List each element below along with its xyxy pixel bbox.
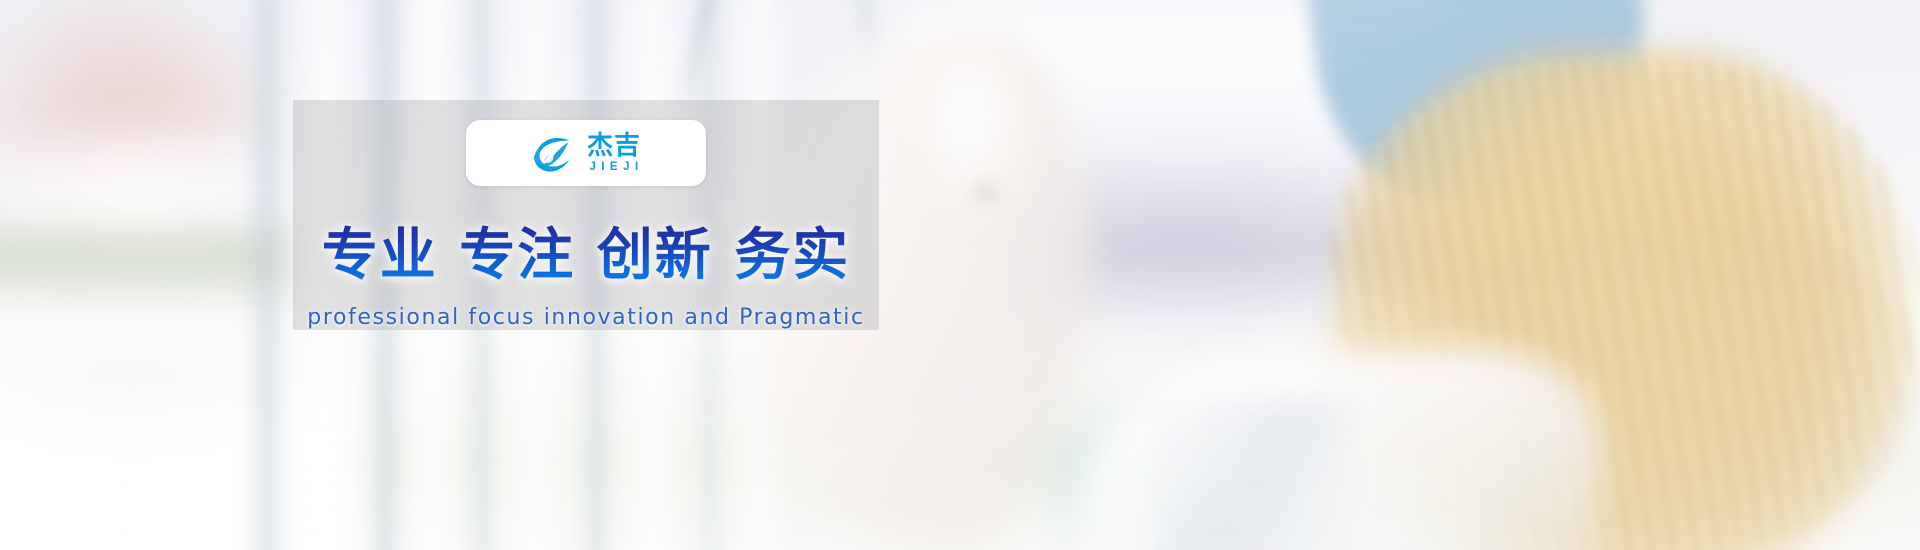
banner-headline: 专业 专注 创新 务实 — [322, 210, 851, 291]
brand-wordmark: 杰吉 JIEJI — [584, 133, 643, 174]
hero-banner: 杰吉 JIEJI 专业 专注 创新 务实 professional focus … — [0, 0, 1920, 550]
background-photo — [0, 0, 1920, 550]
brand-name-cn: 杰吉 — [587, 133, 641, 159]
banner-tagline: professional focus innovation and Pragma… — [307, 305, 864, 330]
background-soft-focus-overlay — [0, 0, 1920, 550]
content-overlay-panel: 杰吉 JIEJI 专业 专注 创新 务实 professional focus … — [293, 100, 879, 330]
swoosh-wave-icon — [528, 130, 575, 177]
brand-logo[interactable]: 杰吉 JIEJI — [466, 120, 706, 186]
brand-name-latin: JIEJI — [589, 162, 643, 174]
